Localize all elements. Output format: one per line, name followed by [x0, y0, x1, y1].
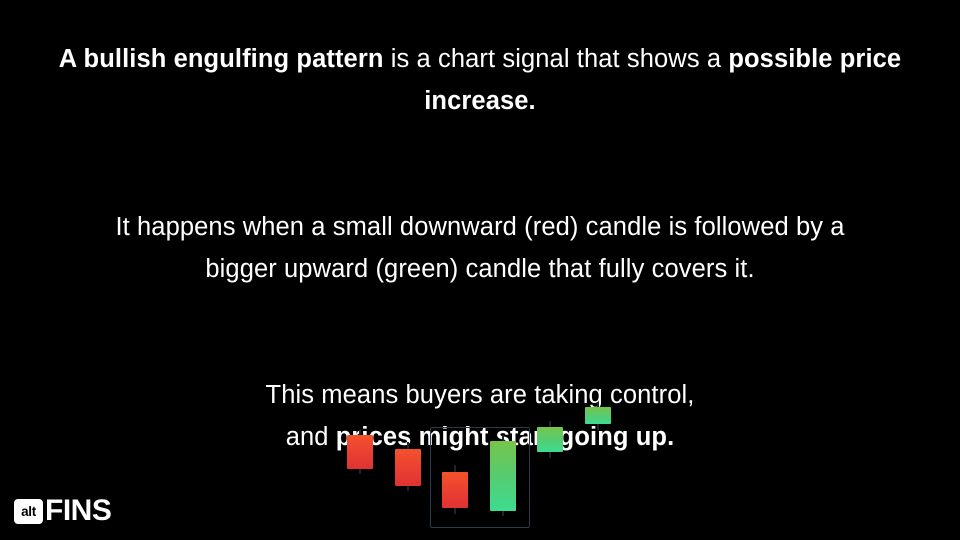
logo-alt-text: alt — [21, 505, 36, 519]
paragraph-conclusion: This means buyers are taking control,and… — [40, 374, 920, 458]
explainer-copy: A bullish engulfing pattern is a chart s… — [0, 0, 960, 458]
logo-alt-badge: alt — [14, 499, 43, 524]
altfins-logo: alt FINS — [14, 496, 111, 526]
slide-canvas: A bullish engulfing pattern is a chart s… — [0, 0, 960, 540]
paragraph-explanation: It happens when a small downward (red) c… — [40, 206, 920, 290]
paragraph-conclusion-line2-plain: and — [286, 423, 336, 451]
paragraph-conclusion-line1: This means buyers are taking control, — [266, 381, 695, 409]
candle-2-body — [442, 472, 468, 508]
paragraph-explanation-line1: It happens when a small downward (red) c… — [115, 213, 844, 241]
bold-phrase-prices-might-start-going-up: prices might start going up. — [336, 423, 675, 451]
candle-2-bearish-engulfed — [442, 465, 468, 514]
paragraph-explanation-line2: bigger upward (green) candle that fully … — [205, 255, 754, 283]
paragraph-definition: A bullish engulfing pattern is a chart s… — [30, 38, 930, 122]
logo-fins-text: FINS — [45, 496, 111, 526]
paragraph-definition-middle: is a chart signal that shows a — [384, 45, 729, 73]
candle-2-wick — [454, 465, 456, 514]
bold-term-bullish-engulfing: A bullish engulfing pattern — [59, 45, 384, 73]
